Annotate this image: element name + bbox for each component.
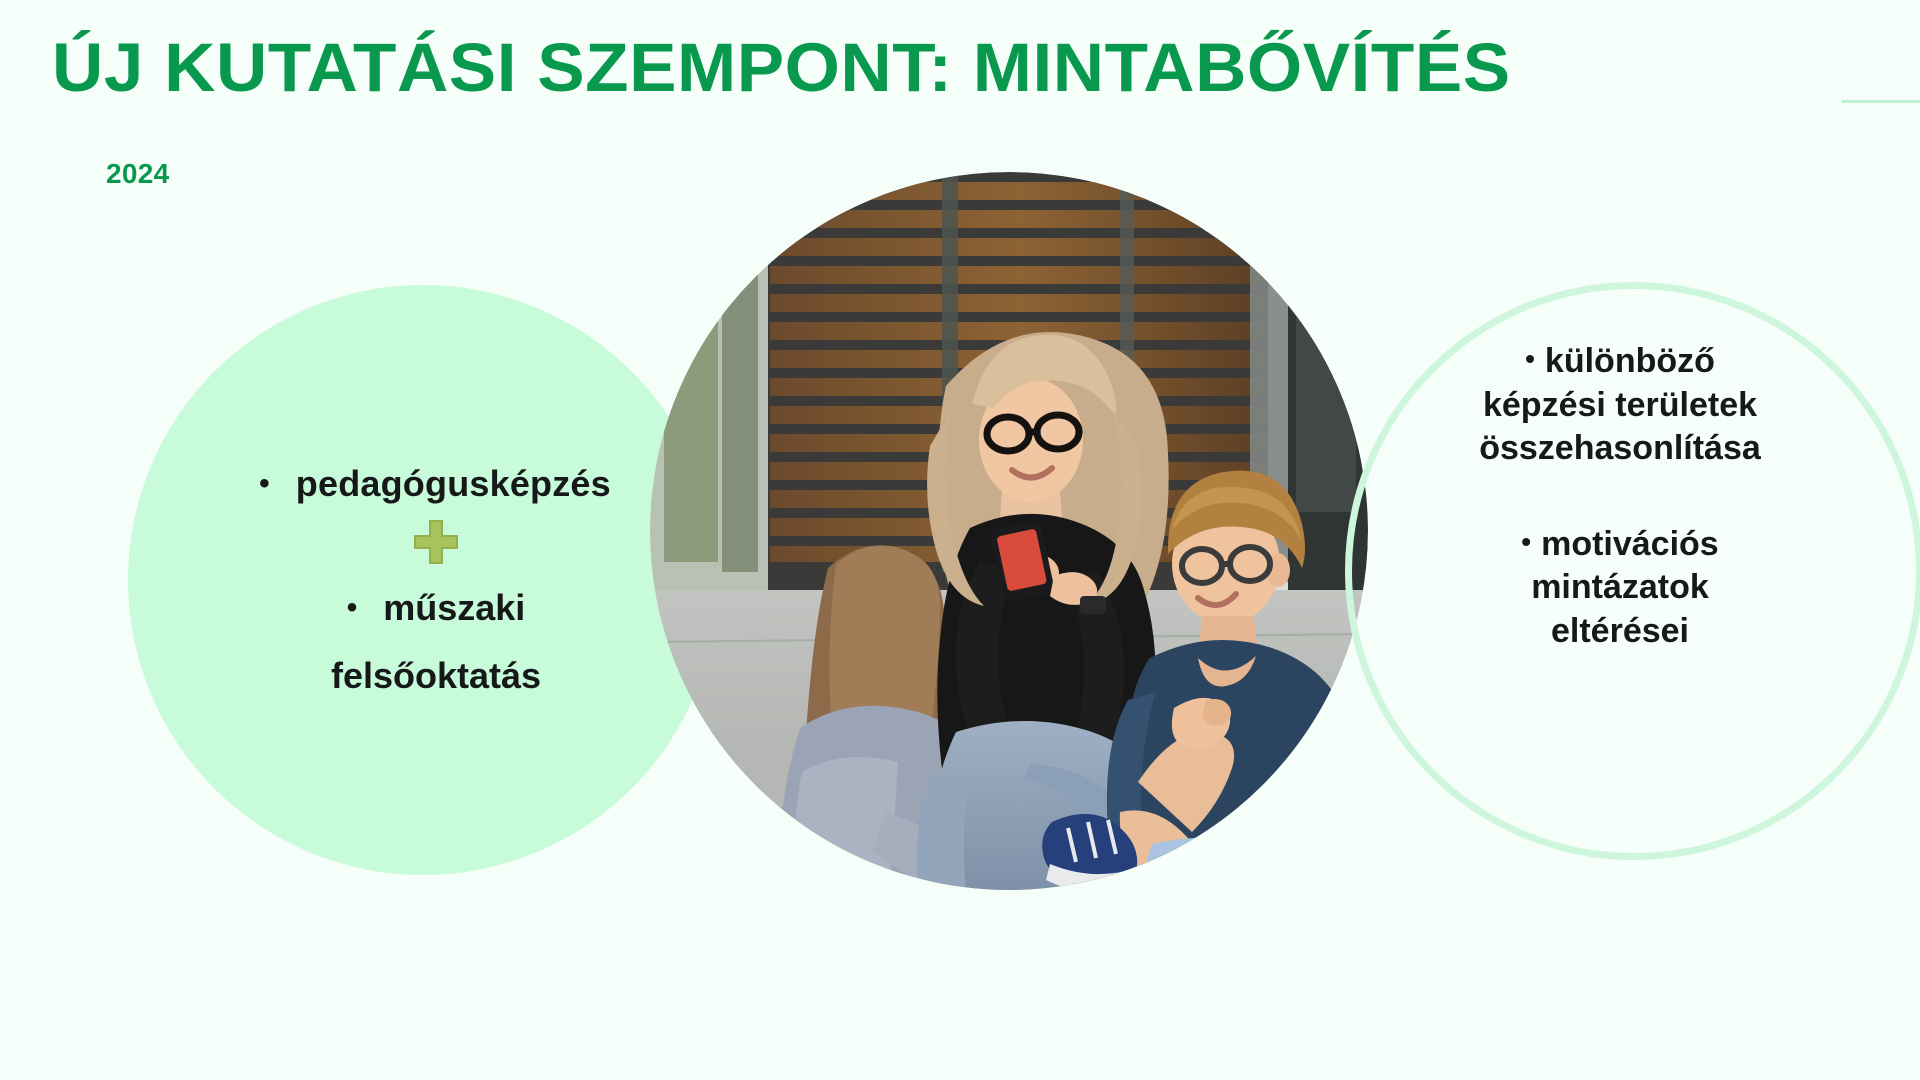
right-item-1-line-3: összehasonlítása (1385, 427, 1855, 471)
plus-icon (413, 519, 459, 565)
left-item-2-label: műszaki (383, 587, 525, 628)
year-label: 2024 (106, 158, 170, 190)
bullet-icon: • (1525, 343, 1535, 374)
left-item-1-label: pedagógusképzés (296, 463, 611, 504)
photo-circle (650, 172, 1368, 890)
right-item-2-label: motivációs (1541, 525, 1719, 563)
right-item-1-label: különböző (1545, 342, 1715, 380)
photo-illustration (650, 172, 1368, 890)
right-item-2: •motivációs mintázatok eltérései (1385, 523, 1855, 654)
right-circle-content: •különböző képzési területek összehasonl… (1385, 340, 1855, 653)
right-item-1: •különböző képzési területek összehasonl… (1385, 340, 1855, 471)
right-item-2-line-1: •motivációs (1385, 523, 1855, 567)
slide-canvas: ÚJ KUTATÁSI SZEMPONT: MINTABŐVÍTÉS 2024 … (0, 0, 1920, 1080)
bullet-icon: • (1521, 526, 1531, 557)
left-item-2-line-2: felsőoktatás (331, 655, 541, 697)
left-circle-content: •pedagógusképzés •műszaki felsőoktatás (128, 285, 718, 875)
right-item-1-line-2: képzési területek (1385, 384, 1855, 428)
left-item-2-line-1: •műszaki (347, 587, 526, 629)
right-item-2-line-2: mintázatok (1385, 566, 1855, 610)
left-item-1: •pedagógusképzés (259, 463, 611, 505)
title-rule-decoration (1842, 100, 1920, 103)
page-title: ÚJ KUTATÁSI SZEMPONT: MINTABŐVÍTÉS (52, 32, 1865, 104)
right-item-2-line-3: eltérései (1385, 610, 1855, 654)
bullet-icon: • (259, 467, 270, 501)
bullet-icon: • (347, 591, 358, 625)
right-item-1-line-1: •különböző (1385, 340, 1855, 384)
